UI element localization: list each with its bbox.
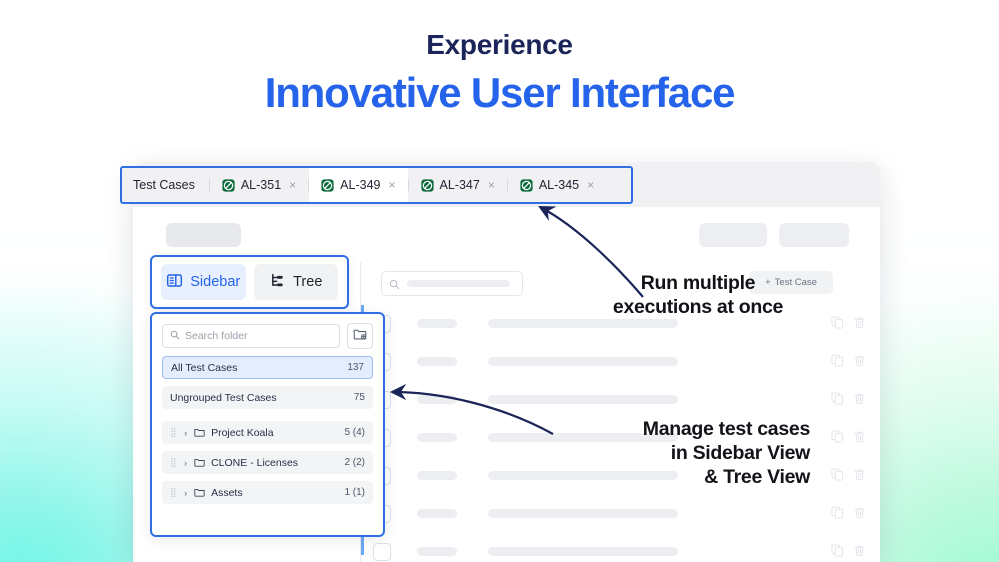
new-folder-icon <box>353 327 367 346</box>
folder-primary-items: All Test Cases137Ungrouped Test Cases75 <box>162 356 373 409</box>
annotation-line: & Tree View <box>548 466 810 490</box>
folder-search-placeholder: Search folder <box>185 330 247 342</box>
new-folder-button[interactable] <box>347 323 373 349</box>
annotation-line: in Sidebar View <box>548 442 810 466</box>
row-placeholder-short <box>417 357 457 366</box>
tab-list: AL-351×AL-349×AL-347×AL-345× <box>210 168 606 202</box>
header-placeholder-title <box>166 223 241 247</box>
row-checkbox[interactable] <box>373 543 391 561</box>
trash-icon[interactable] <box>853 468 866 486</box>
tab-label: AL-345 <box>539 178 579 192</box>
folder-count: 2 (2) <box>344 457 365 468</box>
annotation-manage-test-cases: Manage test casesin Sidebar View& Tree V… <box>548 418 810 489</box>
folder-count: 5 (4) <box>344 427 365 438</box>
row-placeholder-long <box>488 357 678 366</box>
folder-panel: Search folder All Test Cases137Ungrouped… <box>150 312 385 537</box>
trash-icon[interactable] <box>853 354 866 372</box>
header-placeholder-action-2 <box>779 223 849 247</box>
tree-view-button[interactable]: Tree <box>254 264 339 300</box>
test-execution-icon <box>321 179 334 192</box>
folder-icon <box>194 487 205 498</box>
test-execution-icon <box>520 179 533 192</box>
test-execution-icon <box>222 179 235 192</box>
copy-icon[interactable] <box>831 392 844 410</box>
folder-name: Ungrouped Test Cases <box>170 392 354 404</box>
headline-eyebrow: Experience <box>0 30 999 61</box>
trash-icon[interactable] <box>853 392 866 410</box>
row-placeholder-short <box>417 509 457 518</box>
folder-count: 137 <box>347 362 364 373</box>
copy-icon[interactable] <box>831 506 844 524</box>
folder-primary-item[interactable]: All Test Cases137 <box>162 356 373 379</box>
folder-count: 1 (1) <box>344 487 365 498</box>
copy-icon[interactable] <box>831 544 844 562</box>
search-placeholder-bar <box>407 280 510 287</box>
chevron-right-icon[interactable]: › <box>184 488 187 498</box>
tab-close-icon[interactable]: × <box>587 179 594 191</box>
row-placeholder-long <box>488 509 678 518</box>
annotation-line: executions at once <box>583 296 813 320</box>
row-placeholder-long <box>488 319 678 328</box>
header-placeholder-action-1 <box>699 223 767 247</box>
page-title: Innovative User Interface <box>0 69 999 117</box>
tab-close-icon[interactable]: × <box>488 179 495 191</box>
copy-icon[interactable] <box>831 354 844 372</box>
tab-label: AL-349 <box>340 178 380 192</box>
folder-icon <box>194 427 205 438</box>
row-placeholder-short <box>417 319 457 328</box>
trash-icon[interactable] <box>853 544 866 562</box>
row-placeholder-short <box>417 395 457 404</box>
folder-item[interactable]: ⣿›CLONE - Licenses2 (2) <box>162 451 373 474</box>
tab-al-349[interactable]: AL-349× <box>309 168 407 202</box>
tab-al-345[interactable]: AL-345× <box>508 168 606 202</box>
tab-label: AL-347 <box>440 178 480 192</box>
copy-icon[interactable] <box>831 468 844 486</box>
tab-test-cases[interactable]: Test Cases <box>122 168 209 202</box>
folder-name: CLONE - Licenses <box>211 457 344 469</box>
folder-count: 75 <box>354 392 365 403</box>
row-placeholder-short <box>417 433 457 442</box>
row-placeholder-short <box>417 471 457 480</box>
trash-icon[interactable] <box>853 316 866 334</box>
headline-block: Experience Innovative User Interface <box>0 30 999 117</box>
search-icon <box>389 277 400 295</box>
folder-name: Assets <box>211 487 344 499</box>
drag-handle-icon[interactable]: ⣿ <box>170 487 177 498</box>
chevron-right-icon[interactable]: › <box>184 428 187 438</box>
view-toggle-group: Sidebar Tree <box>150 255 349 309</box>
trash-icon[interactable] <box>853 506 866 524</box>
chevron-right-icon[interactable]: › <box>184 458 187 468</box>
annotation-run-executions: Run multipleexecutions at once <box>583 272 813 320</box>
sidebar-view-button[interactable]: Sidebar <box>161 264 246 300</box>
folder-item[interactable]: ⣿›Project Koala5 (4) <box>162 421 373 444</box>
folder-name: Project Koala <box>211 427 344 439</box>
tree-view-label: Tree <box>293 274 322 290</box>
row-placeholder-long <box>488 547 678 556</box>
table-row[interactable] <box>361 533 880 562</box>
table-row[interactable] <box>361 343 880 381</box>
drag-handle-icon[interactable]: ⣿ <box>170 457 177 468</box>
table-row[interactable] <box>361 495 880 533</box>
tab-bar: Test Cases AL-351×AL-349×AL-347×AL-345× <box>120 166 633 204</box>
folder-icon <box>194 457 205 468</box>
trash-icon[interactable] <box>853 430 866 448</box>
tree-icon <box>269 272 286 293</box>
copy-icon[interactable] <box>831 430 844 448</box>
folder-name: All Test Cases <box>171 362 347 374</box>
tab-close-icon[interactable]: × <box>388 179 395 191</box>
sidebar-icon <box>166 272 183 293</box>
drag-handle-icon[interactable]: ⣿ <box>170 427 177 438</box>
table-row[interactable] <box>361 381 880 419</box>
annotation-line: Run multiple <box>583 272 813 296</box>
search-icon <box>170 330 180 343</box>
folder-search-input[interactable]: Search folder <box>162 324 340 348</box>
row-placeholder-long <box>488 395 678 404</box>
tab-close-icon[interactable]: × <box>289 179 296 191</box>
sidebar-view-label: Sidebar <box>190 274 240 290</box>
tab-al-351[interactable]: AL-351× <box>210 168 308 202</box>
test-execution-icon <box>421 179 434 192</box>
folder-primary-item[interactable]: Ungrouped Test Cases75 <box>162 386 373 409</box>
copy-icon[interactable] <box>831 316 844 334</box>
folder-item[interactable]: ⣿›Assets1 (1) <box>162 481 373 504</box>
folder-items: ⣿›Project Koala5 (4)⣿›CLONE - Licenses2 … <box>162 421 373 504</box>
tab-al-347[interactable]: AL-347× <box>409 168 507 202</box>
search-input[interactable] <box>381 271 523 296</box>
annotation-line: Manage test cases <box>548 418 810 442</box>
row-placeholder-short <box>417 547 457 556</box>
tab-label: AL-351 <box>241 178 281 192</box>
folder-search-row: Search folder <box>162 323 373 349</box>
tab-test-cases-label: Test Cases <box>133 178 195 192</box>
